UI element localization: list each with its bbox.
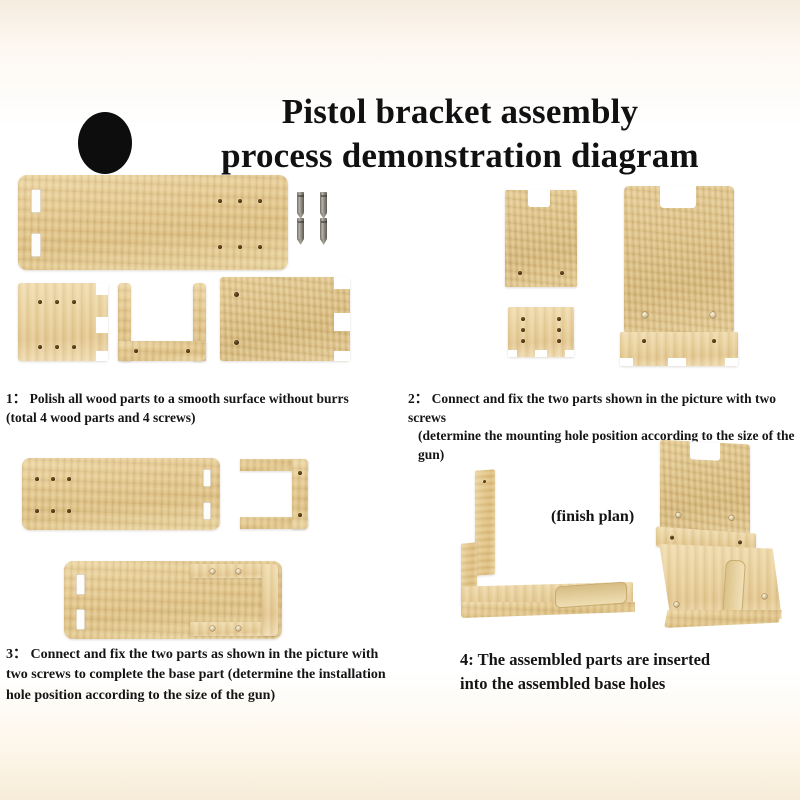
- step-4-caption-line1: 4: The assembled parts are inserted: [460, 648, 790, 672]
- rest-plate-hole: [560, 271, 564, 275]
- plate-notch-top-right: [96, 283, 108, 295]
- step-1-caption: 1： Polish all wood parts to a smooth sur…: [6, 390, 401, 427]
- right-view-mount-hole: [738, 540, 742, 544]
- base-board-hole: [238, 199, 242, 203]
- finish-plan-annotation: (finish plan): [551, 508, 634, 526]
- step3-part-base-board: [22, 458, 220, 530]
- plate-hole: [38, 300, 42, 304]
- mount-plate-hole: [521, 317, 525, 321]
- mount-plate-hole: [521, 328, 525, 332]
- base-board-slot-bottom: [203, 502, 211, 520]
- part-u-bracket: [118, 283, 206, 361]
- base-plate-hole: [712, 339, 716, 343]
- u-bracket-hole: [298, 513, 302, 517]
- u-bracket-bottom: [118, 341, 206, 361]
- base-screw-head: [210, 569, 215, 574]
- plate-hole: [55, 300, 59, 304]
- base-board-slot-top: [203, 469, 211, 487]
- page-title-line2: process demonstration diagram: [150, 134, 770, 178]
- assembled-base-slot-top: [76, 574, 85, 595]
- mount-plate-hole: [557, 339, 561, 343]
- right-view-base-screw: [762, 594, 767, 599]
- step3-part-u-bracket: [240, 459, 308, 529]
- base-plate-notch-right: [725, 358, 738, 366]
- right-view-base-screw: [674, 602, 679, 607]
- finished-stand-left-view: [455, 470, 670, 630]
- rest-plate-u-notch: [528, 190, 550, 207]
- step-3-caption-line3: hole position according to the size of t…: [6, 686, 406, 706]
- part-base-board: [18, 175, 288, 270]
- mount-plate-notch-bottom-left: [508, 350, 517, 357]
- base-board-hole: [258, 245, 262, 249]
- rest-plate-hole: [234, 292, 239, 297]
- assembled-upright-base-plate: [620, 332, 738, 366]
- right-view-upright-plate: [660, 440, 750, 537]
- u-bracket-hole: [134, 349, 138, 353]
- plate-hole: [38, 345, 42, 349]
- right-view-base-channel: [722, 559, 746, 618]
- part-small-mount-plate: [18, 283, 108, 361]
- page-title-line1: Pistol bracket assembly: [282, 92, 639, 131]
- step3-assembled-base: [64, 561, 282, 639]
- base-board-hole: [218, 199, 222, 203]
- mount-plate-notch-bottom-mid: [535, 350, 547, 357]
- u-bracket-hole: [298, 471, 302, 475]
- right-view-u-notch: [690, 441, 720, 461]
- plate-hole: [72, 300, 76, 304]
- screw: [320, 218, 327, 240]
- step-3-caption-line1: 3： Connect and fix the two parts as show…: [6, 645, 406, 665]
- bracket-spine: [262, 564, 278, 636]
- plate-notch-mid-right: [96, 317, 108, 333]
- screw: [320, 192, 327, 214]
- u-bracket-hole: [186, 349, 190, 353]
- mount-plate-notch-bottom-right: [565, 350, 574, 357]
- base-screw-head: [236, 626, 241, 631]
- mount-plate-hole: [521, 339, 525, 343]
- assembled-base-slot-bottom: [76, 609, 85, 630]
- base-board-hole: [35, 509, 39, 513]
- mount-plate-hole: [557, 317, 561, 321]
- assembled-base-bracket-overlay: [190, 561, 282, 639]
- diagram-header: Pistol bracket assembly process demonstr…: [0, 42, 800, 152]
- upright-screw-head: [642, 312, 648, 318]
- base-board-slot-bottom: [31, 233, 41, 257]
- step-4-caption: 4: The assembled parts are inserted into…: [460, 648, 790, 696]
- step-3-caption: 3： Connect and fix the two parts as show…: [6, 645, 406, 706]
- assembled-upright-plate: [624, 186, 734, 334]
- plate-hole: [55, 345, 59, 349]
- rest-plate-notch-bottom-right: [334, 351, 350, 361]
- base-board-hole: [51, 509, 55, 513]
- filled-circle-bullet-icon: [78, 112, 132, 174]
- step-3-caption-line2: two screws to complete the base part (de…: [6, 665, 406, 685]
- upright-u-notch: [660, 186, 696, 208]
- base-board-hole: [51, 477, 55, 481]
- base-board-hole: [35, 477, 39, 481]
- step-1-caption-line1: 1： Polish all wood parts to a smooth sur…: [6, 390, 401, 409]
- step-2-caption-line1: 2： Connect and fix the two parts shown i…: [408, 390, 800, 427]
- rest-plate-hole: [234, 340, 239, 345]
- right-view-screw-head: [676, 512, 681, 517]
- step2-part-gun-rest-plate: [505, 190, 577, 287]
- right-view-base-front: [664, 610, 782, 628]
- base-board-hole: [238, 245, 242, 249]
- screw: [297, 192, 304, 214]
- base-board-hole: [67, 477, 71, 481]
- finished-stand-right-view: [650, 442, 800, 642]
- base-board-hole: [67, 509, 71, 513]
- base-plate-notch-left: [620, 358, 633, 366]
- base-board-hole: [258, 199, 262, 203]
- base-screw-head: [210, 626, 215, 631]
- plate-hole: [72, 345, 76, 349]
- rest-plate-hole: [518, 271, 522, 275]
- base-plate-hole: [642, 339, 646, 343]
- right-view-mount-hole: [670, 535, 674, 539]
- rest-plate-notch-top-right: [334, 277, 350, 289]
- right-view-screw-head: [729, 515, 734, 520]
- left-view-upright-hole: [483, 480, 486, 483]
- part-gun-rest-plate: [220, 277, 350, 361]
- rest-plate-notch-mid-right: [334, 313, 350, 331]
- left-view-upright-board: [475, 469, 495, 575]
- plate-notch-bottom-right: [96, 351, 108, 361]
- mount-plate-hole: [557, 328, 561, 332]
- step-1-caption-line2: (total 4 wood parts and 4 screws): [6, 409, 401, 428]
- u-bracket-spine: [292, 459, 308, 529]
- diagram-page: Pistol bracket assembly process demonstr…: [0, 0, 800, 800]
- screw: [297, 218, 304, 240]
- base-board-slot-top: [31, 189, 41, 213]
- page-title: Pistol bracket assembly process demonstr…: [150, 90, 770, 178]
- step2-assembled-upright: [620, 186, 738, 366]
- step2-part-small-mount-plate: [508, 307, 574, 357]
- base-screw-head: [236, 569, 241, 574]
- upright-screw-head: [710, 312, 716, 318]
- base-board-hole: [218, 245, 222, 249]
- step-4-caption-line2: into the assembled base holes: [460, 672, 790, 696]
- base-plate-notch-mid: [668, 358, 686, 366]
